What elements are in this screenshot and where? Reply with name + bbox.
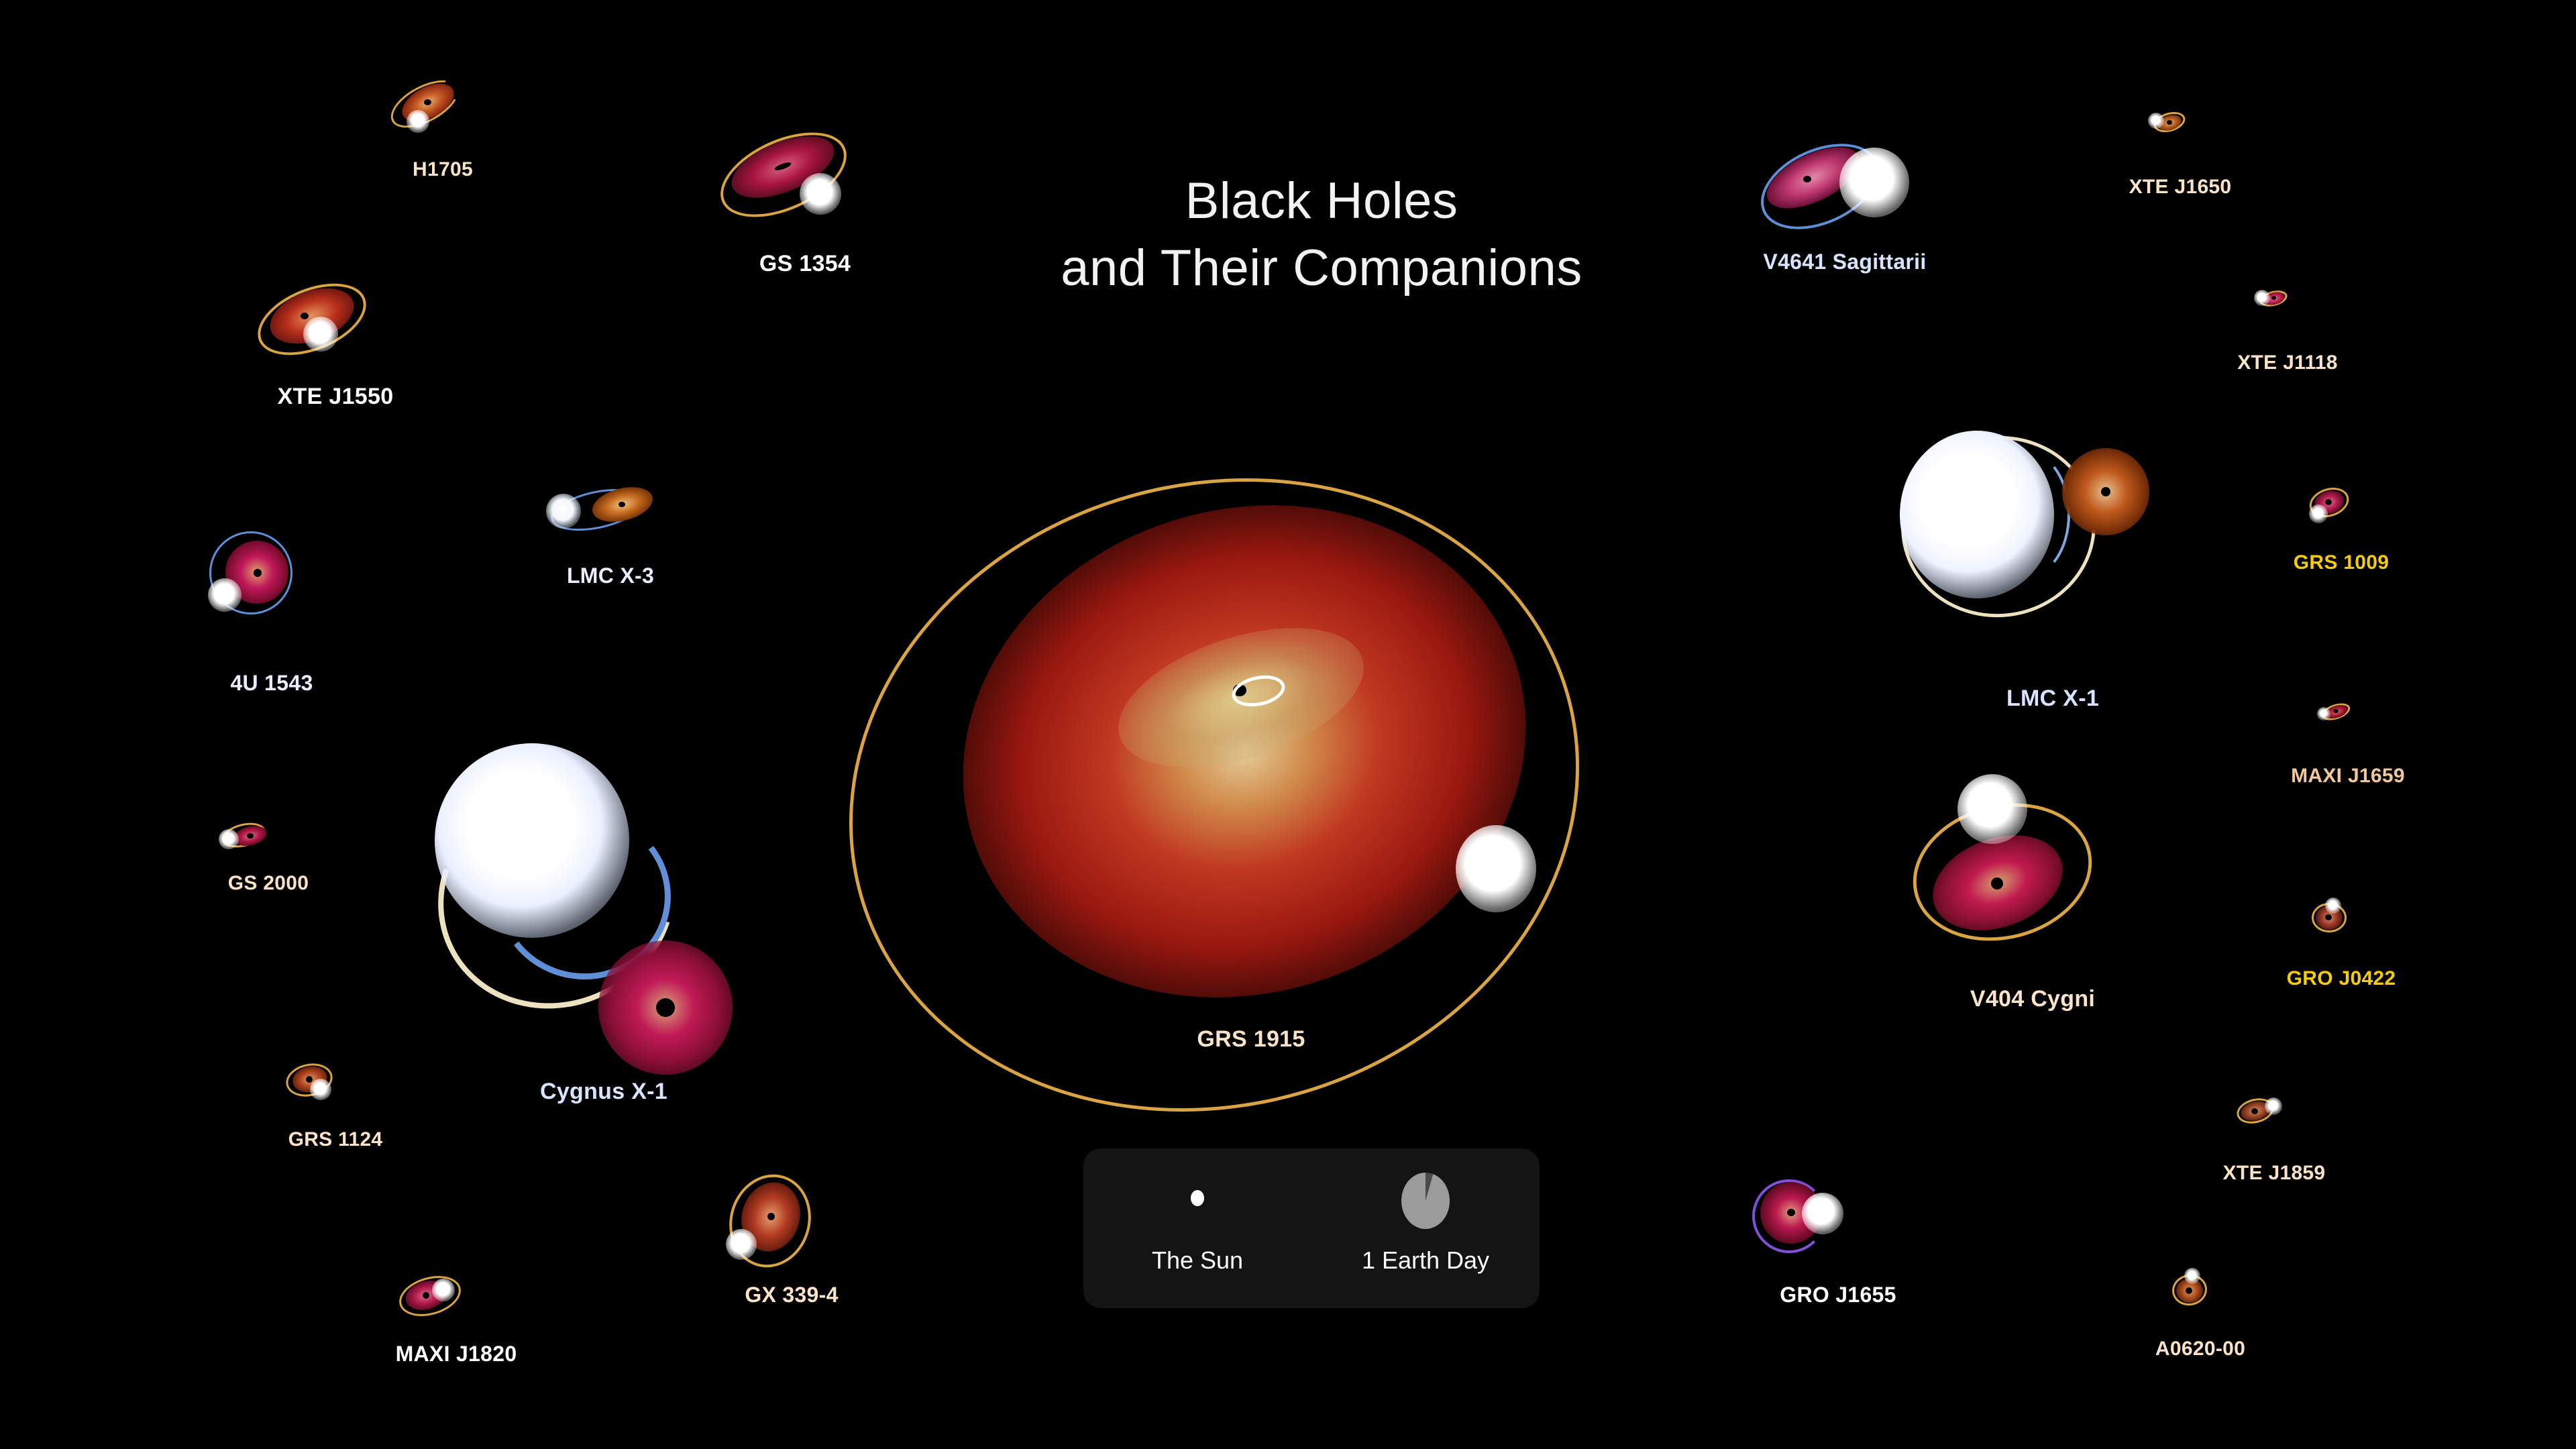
system-label: GRO J0422 — [2287, 967, 2396, 990]
companion-star — [1802, 1193, 1843, 1234]
black-hole-core — [301, 313, 309, 319]
system-label: XTE J1650 — [2129, 176, 2232, 199]
companion-star — [2184, 1268, 2200, 1284]
companion-star — [546, 494, 581, 529]
binary-system-art — [2127, 1254, 2274, 1389]
companion-star — [2317, 707, 2330, 720]
companion-star — [435, 743, 629, 938]
binary-system-art — [201, 792, 335, 919]
system-a0620-00[interactable]: A0620-00 — [2127, 1254, 2274, 1389]
system-grs1915[interactable]: GRS 1915 — [832, 436, 1670, 1080]
black-hole-core — [2167, 120, 2172, 125]
black-hole-core — [656, 998, 675, 1017]
legend-sun-label: The Sun — [1152, 1246, 1243, 1275]
black-hole-infographic: Black Holes and Their Companions H1705 G… — [0, 0, 2576, 1449]
system-grs1009[interactable]: GRS 1009 — [2267, 470, 2415, 604]
orbit-arc-blue — [1983, 451, 2070, 578]
binary-system-art — [248, 282, 423, 436]
system-lmc-x3[interactable]: LMC X-3 — [530, 476, 691, 624]
binary-system-art — [2200, 1073, 2348, 1207]
system-label: GRS 1009 — [2294, 551, 2389, 574]
system-gro-j1655[interactable]: GRO J1655 — [1737, 1167, 1939, 1342]
black-hole-core — [254, 569, 262, 577]
system-xte-j1650[interactable]: XTE J1650 — [2106, 94, 2254, 221]
binary-system-art — [376, 74, 510, 201]
companion-star — [800, 173, 841, 215]
companion-star — [1839, 148, 1909, 217]
system-label: MAXI J1820 — [396, 1342, 517, 1366]
legend-item-sun: The Sun — [1083, 1148, 1311, 1308]
system-gro-j0422[interactable]: GRO J0422 — [2267, 885, 2415, 1020]
black-hole-core — [619, 502, 625, 507]
binary-system-art — [382, 1261, 530, 1395]
legend-item-day: 1 Earth Day — [1311, 1148, 1540, 1308]
binary-system-art — [2274, 684, 2422, 812]
black-hole-core — [423, 1292, 429, 1299]
black-hole-core — [2101, 487, 2110, 496]
system-label: H1705 — [413, 158, 473, 181]
black-hole-core — [306, 1076, 313, 1083]
system-xte-j1859[interactable]: XTE J1859 — [2200, 1073, 2348, 1207]
companion-star — [310, 1079, 331, 1100]
legend-day-label: 1 Earth Day — [1362, 1246, 1489, 1275]
companion-star — [407, 110, 429, 133]
page-title: Black Holes and Their Companions — [1033, 168, 1610, 303]
companion-star — [303, 317, 338, 352]
companion-star — [219, 829, 239, 849]
binary-system-art — [2214, 268, 2361, 396]
system-label: LMC X-1 — [2006, 686, 2099, 712]
system-gx339-4[interactable]: GX 339-4 — [711, 1167, 872, 1335]
black-hole-core — [2186, 1287, 2192, 1294]
binary-system-art — [530, 476, 691, 624]
binary-system-art — [2106, 94, 2254, 221]
system-label: GS 2000 — [228, 872, 309, 895]
system-cygnus-x1[interactable]: Cygnus X-1 — [416, 724, 792, 1134]
black-hole-core — [2271, 296, 2276, 300]
system-v4641-sgr[interactable]: V4641 Sagittarii — [1744, 134, 1945, 288]
system-label: V4641 Sagittarii — [1763, 250, 1926, 274]
system-label: GRS 1915 — [1197, 1026, 1305, 1053]
system-gs2000[interactable]: GS 2000 — [201, 792, 335, 919]
system-grs1124[interactable]: GRS 1124 — [268, 1046, 402, 1181]
black-hole-core — [767, 1213, 775, 1220]
binary-system-art — [832, 436, 1670, 1080]
system-4u1543[interactable]: 4U 1543 — [195, 517, 349, 698]
system-xte-j1118[interactable]: XTE J1118 — [2214, 268, 2361, 396]
companion-star — [1957, 774, 2027, 844]
system-maxi-j1659[interactable]: MAXI J1659 — [2274, 684, 2422, 812]
companion-star — [2309, 504, 2328, 523]
system-label: GRS 1124 — [288, 1128, 383, 1151]
black-hole-core — [2325, 499, 2332, 505]
system-gs1354[interactable]: GS 1354 — [711, 134, 899, 302]
system-label: XTE J1118 — [2237, 352, 2338, 374]
binary-system-art — [1885, 416, 2220, 731]
system-maxi-j1820[interactable]: MAXI J1820 — [382, 1261, 530, 1395]
black-hole-core — [424, 99, 431, 105]
system-v404-cygni[interactable]: V404 Cygni — [1898, 765, 2167, 1046]
companion-star — [208, 578, 241, 612]
system-label: GX 339-4 — [745, 1283, 838, 1307]
companion-star — [2254, 290, 2270, 306]
title-line-1: Black Holes — [1033, 168, 1610, 235]
black-hole-core — [2325, 914, 2332, 920]
system-label: GS 1354 — [759, 251, 851, 277]
sun-dot-icon — [1191, 1190, 1204, 1206]
system-label: LMC X-3 — [567, 563, 654, 588]
black-hole-core — [1991, 877, 2003, 890]
binary-system-art — [2267, 470, 2415, 604]
binary-system-art — [268, 1046, 402, 1181]
companion-star — [432, 1279, 455, 1301]
black-hole-core — [2251, 1108, 2258, 1114]
black-hole-core — [2333, 709, 2339, 713]
companion-star — [2325, 898, 2341, 914]
black-hole-core — [247, 833, 254, 839]
system-label: Cygnus X-1 — [540, 1079, 667, 1105]
system-label: 4U 1543 — [230, 671, 313, 696]
scale-legend: The Sun 1 Earth Day — [1083, 1148, 1540, 1308]
system-label: XTE J1550 — [278, 384, 394, 410]
system-label: MAXI J1659 — [2291, 765, 2405, 788]
black-hole-core — [1803, 176, 1811, 182]
companion-star — [726, 1229, 757, 1260]
binary-system-art — [711, 1167, 872, 1335]
system-h1705[interactable]: H1705 — [376, 74, 510, 201]
binary-system-art — [1737, 1167, 1939, 1342]
system-label: A0620-00 — [2155, 1338, 2245, 1360]
system-lmc-x1[interactable]: LMC X-1 — [1885, 416, 2220, 731]
title-line-2: and Their Companions — [1033, 235, 1610, 302]
system-label: XTE J1859 — [2223, 1162, 2326, 1185]
binary-system-art — [2267, 885, 2415, 1020]
system-label: GRO J1655 — [1780, 1283, 1896, 1307]
companion-star — [2265, 1097, 2282, 1115]
system-xte-j1550[interactable]: XTE J1550 — [248, 282, 423, 436]
system-label: V404 Cygni — [1970, 986, 2095, 1012]
clock-pie-icon — [1401, 1173, 1450, 1229]
binary-system-art — [416, 724, 792, 1134]
black-hole-core — [1787, 1209, 1795, 1216]
companion-star — [2148, 113, 2164, 129]
companion-star — [1456, 825, 1536, 912]
